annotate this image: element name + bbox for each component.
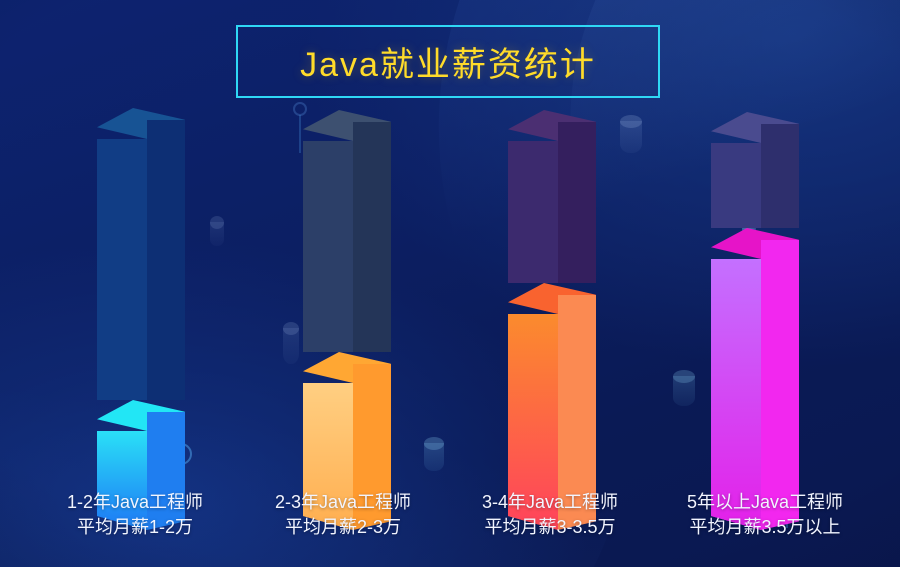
bar-label-1: 1-2年Java工程师 平均月薪1-2万 [20,490,250,540]
page-title: Java就业薪资统计 [238,27,658,96]
bar-label-2-line2: 平均月薪2-3万 [228,515,458,540]
bar-label-1-line2: 平均月薪1-2万 [20,515,250,540]
bar-column-1 [97,108,185,499]
decor-cylinder-3 [210,216,224,252]
bar-fill-left-face-4 [711,259,761,516]
bar-shell-left-face-2 [303,141,353,352]
bar-shell-1 [97,108,185,400]
bar-shell-right-face-2 [353,122,391,352]
bar-fill-right-face-4 [761,240,799,516]
bar-label-3-line2: 平均月薪3-3.5万 [432,515,668,540]
bar-label-3-line1: 3-4年Java工程师 [482,492,618,512]
bar-fill-left-face-3 [508,314,558,516]
bar-shell-right-face-1 [147,120,185,400]
bar-label-4-line2: 平均月薪3.5万以上 [639,515,891,540]
bar-shell-2 [303,110,391,352]
title-frame: Java就业薪资统计 [236,25,660,98]
bar-shell-right-face-3 [558,122,596,283]
bar-fill-4 [711,228,799,530]
bar-label-2-line1: 2-3年Java工程师 [275,492,411,512]
bar-column-2 [303,110,391,499]
decor-cylinder-2 [283,322,299,370]
bar-label-2: 2-3年Java工程师 平均月薪2-3万 [228,490,458,540]
bar-column-4 [711,112,799,499]
bar-fill-right-face-3 [558,295,596,516]
bar-label-1-line1: 1-2年Java工程师 [67,492,203,512]
bar-shell-left-face-1 [97,139,147,400]
bar-label-3: 3-4年Java工程师 平均月薪3-3.5万 [432,490,668,540]
bar-column-3 [508,110,596,499]
decor-cylinder-4 [424,437,444,477]
bar-shell-right-face-4 [761,124,799,228]
bar-shell-left-face-3 [508,141,558,283]
bar-label-4: 5年以上Java工程师 平均月薪3.5万以上 [639,490,891,540]
bar-label-4-line1: 5年以上Java工程师 [687,492,843,512]
bar-shell-left-face-4 [711,143,761,228]
bar-shell-3 [508,110,596,283]
infographic-canvas: Java就业薪资统计 1-2年Java工程师 平均月薪1-2万 2-3年Java… [0,0,900,567]
decor-cylinder-1 [620,115,642,159]
decor-cylinder-5 [673,370,695,412]
bar-shell-4 [711,112,799,228]
